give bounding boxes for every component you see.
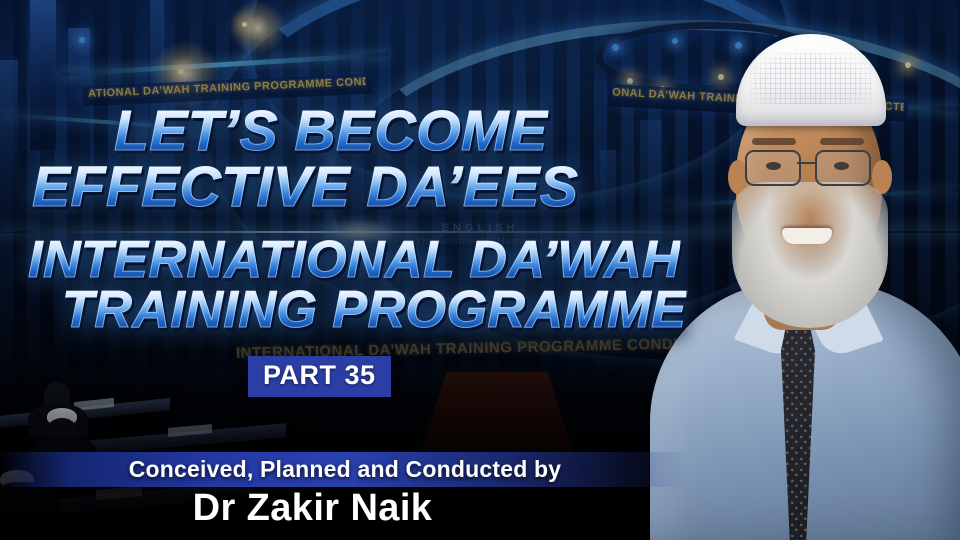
eyeglasses-bridge [797,162,817,164]
video-thumbnail: ATIONAL DA’WAH TRAINING PROGRAMME CONDUC… [0,0,960,540]
subtitle-line-1: INTERNATIONAL DA’WAH [28,235,680,286]
eyeglasses-left-lens [745,150,801,186]
speaker-name: Dr Zakir Naik [0,487,625,530]
eyeglasses-right-lens [815,150,871,186]
speaker-beard [732,182,888,328]
title-block: LET’S BECOME EFFECTIVE DA’EES INTERNATIO… [0,0,680,540]
speaker-eyebrow-left [752,138,796,145]
title-line-2: EFFECTIVE DA’EES [32,160,578,216]
part-badge: PART 35 [248,356,391,397]
part-badge-label: PART 35 [263,360,376,390]
speaker-eyebrow-right [820,138,864,145]
credit-prefix: Conceived, Planned and Conducted by [0,452,690,487]
taqiyah-cap [736,34,886,126]
subtitle-line-2: TRAINING PROGRAMME [62,285,686,336]
title-line-1: LET’S BECOME [114,104,548,160]
speaker-mouth [782,228,832,244]
